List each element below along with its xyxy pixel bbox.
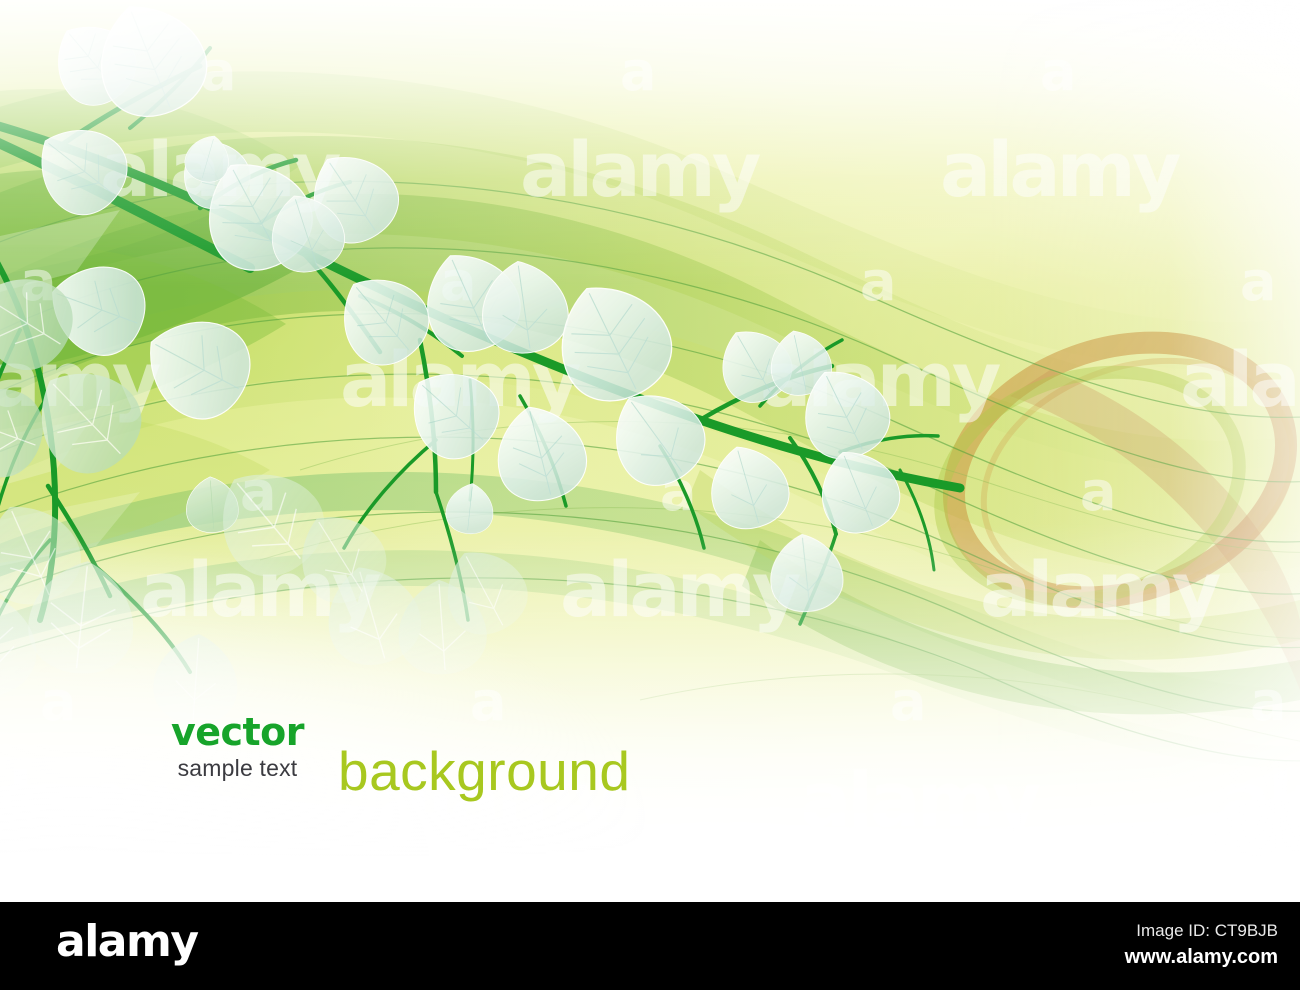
image-id-label: Image ID: CT9BJB [1125,920,1278,942]
screenshot-root: a a a a a a a a a a a a a a alamy alamy … [0,0,1300,990]
alamy-footer-bar: alamy Image ID: CT9BJB www.alamy.com [0,902,1300,990]
caption-vector-text: vector [155,712,320,752]
artwork-canvas: a a a a a a a a a a a a a a alamy alamy … [0,0,1300,902]
caption-sample-text: sample text [155,754,320,782]
alamy-url-label: www.alamy.com [1125,944,1278,970]
alamy-logo: alamy [56,918,198,966]
caption-background-text: background [338,742,630,800]
caption-block: vector sample text background [155,712,775,804]
footer-meta: Image ID: CT9BJB www.alamy.com [1125,920,1278,970]
caption-left-column: vector sample text [155,712,320,782]
